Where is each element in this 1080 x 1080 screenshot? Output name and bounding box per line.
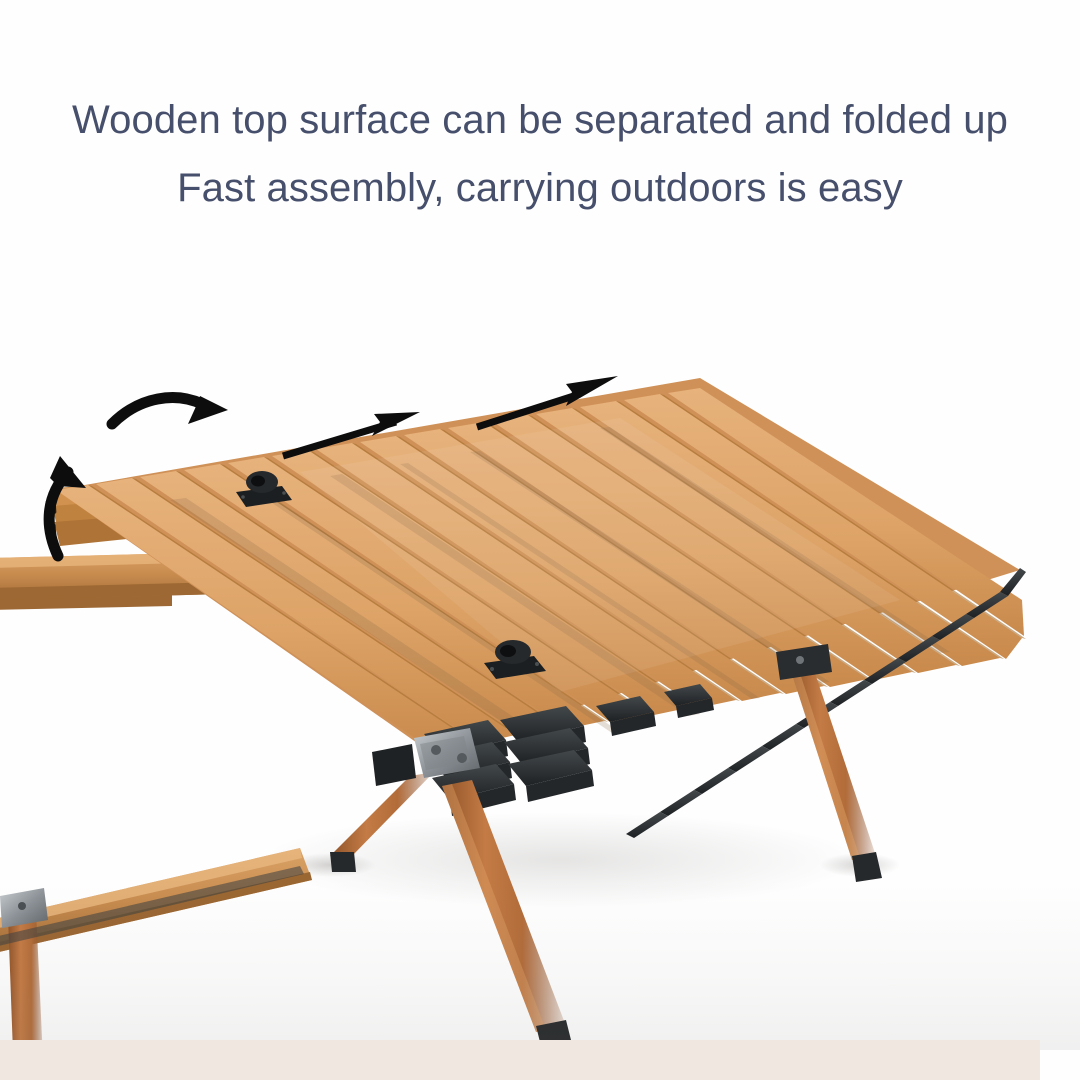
headline-line-2: Fast assembly, carrying outdoors is easy [0, 154, 1080, 222]
product-photo [0, 300, 1080, 1080]
headline-line-1: Wooden top surface can be separated and … [0, 86, 1080, 154]
floor-shadows [260, 812, 900, 908]
bottom-color-band [0, 1040, 1040, 1080]
headline-block: Wooden top surface can be separated and … [0, 86, 1080, 222]
product-feature-image: Wooden top surface can be separated and … [0, 0, 1080, 1080]
arrow-fold-over-curved [112, 396, 228, 424]
foot-cap [330, 852, 356, 872]
table-top-slats [56, 378, 1026, 752]
